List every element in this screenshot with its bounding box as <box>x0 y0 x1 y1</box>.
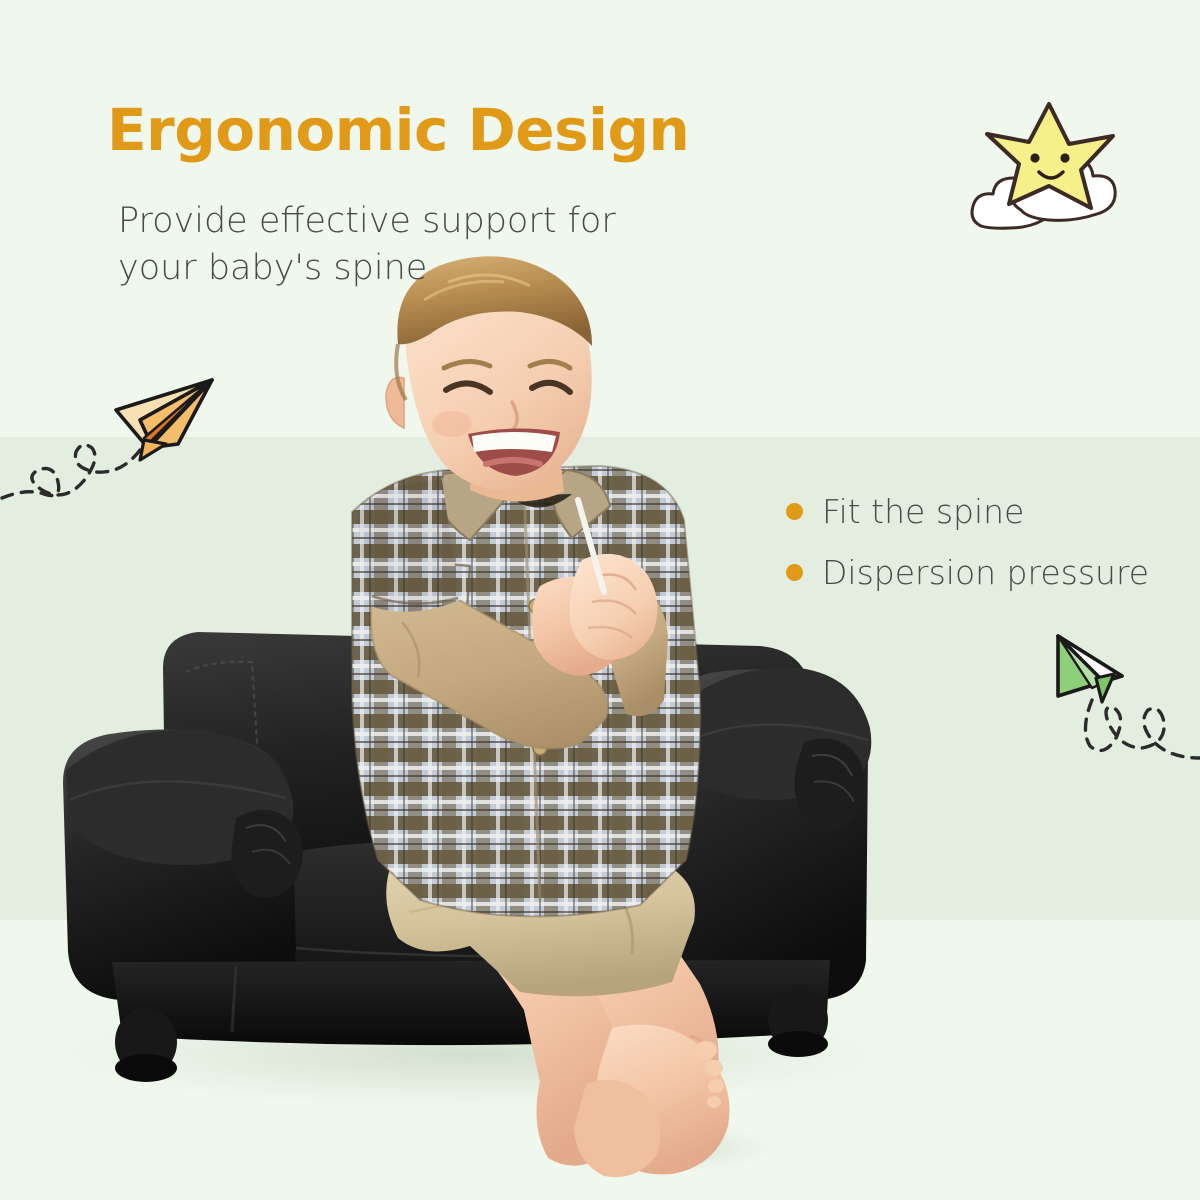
list-item: Dispersion pressure <box>786 553 1186 592</box>
green-paper-plane-doodle <box>1022 612 1200 792</box>
plane-trail-dashed <box>2 445 140 498</box>
plane-trail-dashed <box>1085 700 1200 758</box>
product-feature-poster: Ergonomic Design Provide effective suppo… <box>0 0 1200 1200</box>
paper-plane-icon <box>116 380 212 460</box>
feature-list: Fit the spine Dispersion pressure <box>786 492 1186 614</box>
orange-paper-plane-doodle <box>0 358 230 538</box>
star-eye-right <box>1060 153 1069 162</box>
bullet-dot-icon <box>786 564 803 581</box>
page-title: Ergonomic Design <box>107 96 689 164</box>
star-eye-left <box>1030 153 1039 162</box>
background-band-bottom <box>0 920 1200 1200</box>
bullet-dot-icon <box>786 503 803 520</box>
feature-label: Fit the spine <box>822 492 1024 531</box>
smiling-star-cloud-doodle <box>965 92 1135 247</box>
feature-label: Dispersion pressure <box>822 553 1149 592</box>
list-item: Fit the spine <box>786 492 1186 531</box>
paper-plane-icon <box>1058 636 1122 702</box>
page-subtitle: Provide effective support for your baby'… <box>118 198 678 291</box>
